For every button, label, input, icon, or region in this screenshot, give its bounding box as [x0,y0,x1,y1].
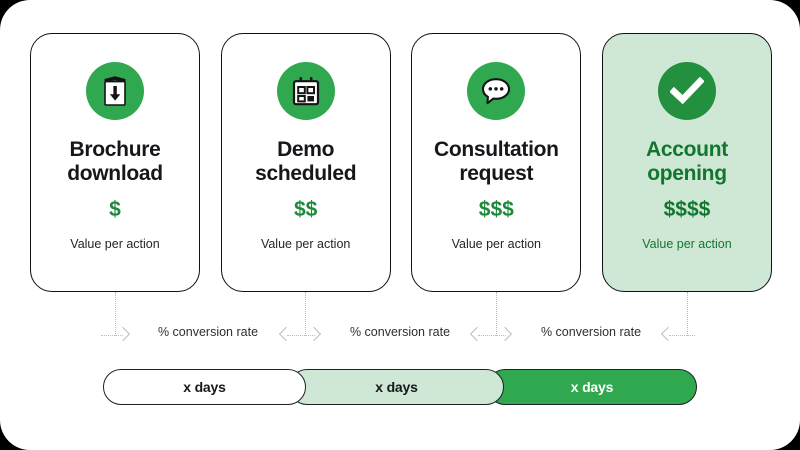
arrow-right-icon [307,327,321,341]
card-title: Demo scheduled [247,138,364,185]
diagram-canvas: Brochure download $ Value per action [0,0,800,450]
card-subtitle: Value per action [642,237,731,251]
arrow-left-icon [470,327,484,341]
arrow-right-icon [116,327,130,341]
card-title-line1: Demo [277,138,334,161]
brochure-download-icon [86,62,144,120]
card-subtitle: Value per action [261,237,350,251]
card-subtitle: Value per action [452,237,541,251]
card-title: Account opening [638,138,736,185]
card-title-line1: Account [646,138,728,161]
card-title-line2: request [459,162,533,185]
funnel-cards-row: Brochure download $ Value per action [30,33,772,292]
card-value: $$$$ [664,198,711,222]
card-value: $$$ [479,198,514,222]
card-value: $ [109,198,121,222]
card-value: $$ [294,198,317,222]
arrow-left-icon [661,327,675,341]
connector-dropline [115,292,116,336]
card-title-line2: scheduled [255,162,356,185]
conversion-rate-label-3: % conversion rate [521,325,661,339]
card-title: Consultation request [426,138,567,185]
card-subtitle: Value per action [70,237,159,251]
days-segment-label: x days [183,379,225,395]
funnel-card-account-opening[interactable]: Account opening $$$$ Value per action [602,33,772,292]
card-title-line1: Brochure [70,138,161,161]
days-segment-1[interactable]: x days [103,369,306,405]
conversion-connectors: % conversion rate % conversion rate % co… [0,292,800,348]
days-segment-2[interactable]: x days [289,369,504,405]
conversion-rate-label-2: % conversion rate [330,325,470,339]
calendar-icon [277,62,335,120]
check-mark-icon [658,62,716,120]
days-segment-label: x days [571,379,613,395]
funnel-card-brochure-download[interactable]: Brochure download $ Value per action [30,33,200,292]
card-title-line1: Consultation [434,138,559,161]
card-title-line2: download [67,162,163,185]
funnel-card-demo-scheduled[interactable]: Demo scheduled $$ Value per action [221,33,391,292]
connector-line [669,335,695,336]
card-title: Brochure download [59,138,171,185]
funnel-card-consultation-request[interactable]: Consultation request $$$ Value per actio… [411,33,581,292]
arrow-left-icon [279,327,293,341]
arrow-right-icon [498,327,512,341]
days-segment-3[interactable]: x days [487,369,697,405]
days-timeline-bar: x days x days x days [0,369,800,407]
connector-dropline [687,292,688,336]
connector-dropline [305,292,306,336]
conversion-rate-label-1: % conversion rate [138,325,278,339]
card-title-line2: opening [647,162,727,185]
speech-bubble-icon [467,62,525,120]
connector-dropline [496,292,497,336]
days-segment-label: x days [375,379,417,395]
